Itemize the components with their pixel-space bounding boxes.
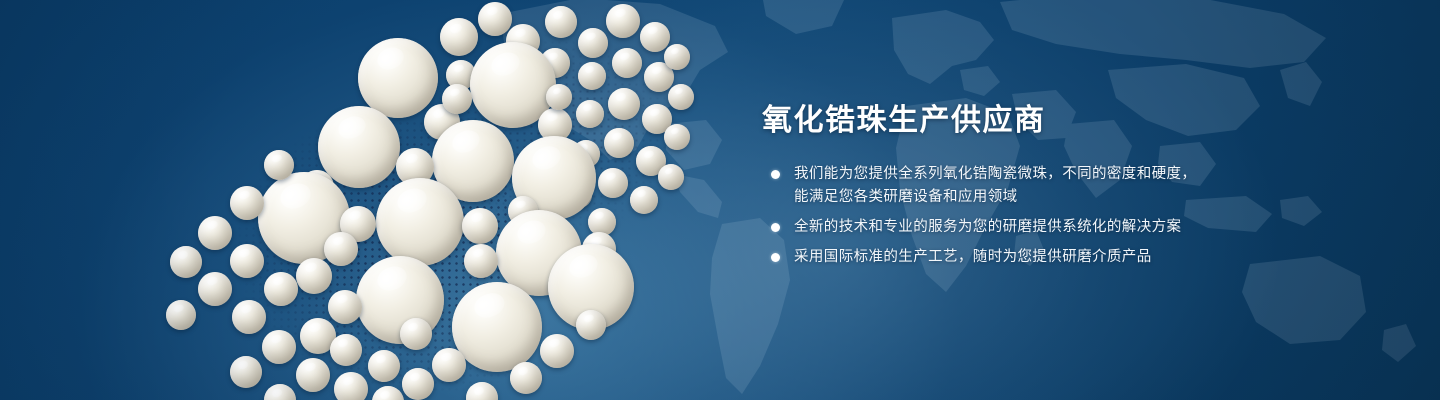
bullet-item-2-text: 全新的技术和专业的服务为您的研磨提供系统化的解决方案 [794, 216, 1402, 239]
bullet-item-1: 我们能为您提供全系列氧化锆陶瓷微珠，不同的密度和硬度， 能满足您各类研磨设备和应… [762, 163, 1402, 209]
bullet-item-3-text: 采用国际标准的生产工艺，随时为您提供研磨介质产品 [794, 246, 1402, 269]
dot-bullet-icon [771, 170, 780, 179]
bullet-item-1-line1: 我们能为您提供全系列氧化锆陶瓷微珠，不同的密度和硬度， [794, 166, 1196, 182]
feature-bullet-list: 我们能为您提供全系列氧化锆陶瓷微珠，不同的密度和硬度， 能满足您各类研磨设备和应… [762, 163, 1402, 269]
hero-banner: 氧化锆珠生产供应商 我们能为您提供全系列氧化锆陶瓷微珠，不同的密度和硬度， 能满… [0, 0, 1440, 400]
dot-bullet-icon [771, 253, 780, 262]
bullet-item-1-text: 我们能为您提供全系列氧化锆陶瓷微珠，不同的密度和硬度， 能满足您各类研磨设备和应… [794, 163, 1402, 209]
dot-bullet-icon [771, 223, 780, 232]
banner-text-block: 氧化锆珠生产供应商 我们能为您提供全系列氧化锆陶瓷微珠，不同的密度和硬度， 能满… [762, 104, 1402, 269]
bullet-item-3: 采用国际标准的生产工艺，随时为您提供研磨介质产品 [762, 246, 1402, 269]
banner-headline: 氧化锆珠生产供应商 [762, 104, 1402, 137]
bullet-item-2: 全新的技术和专业的服务为您的研磨提供系统化的解决方案 [762, 216, 1402, 239]
bullet-item-1-line2: 能满足您各类研磨设备和应用领域 [794, 186, 1402, 209]
